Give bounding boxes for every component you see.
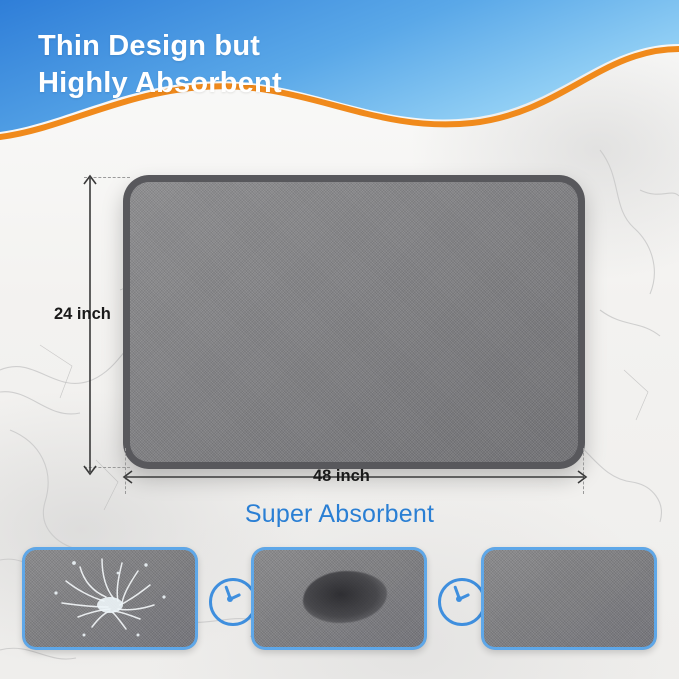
height-dimension-label: 24 inch [54,305,111,324]
header-banner: Thin Design but Highly Absorbent [0,0,679,150]
clock-icon-1 [209,578,257,626]
page-title: Thin Design but Highly Absorbent [38,28,282,101]
water-splash-icon [22,547,198,650]
height-arrow [78,170,102,480]
wet-stain-shape [303,571,387,623]
water-splash-panel [22,547,198,650]
wet-stain-panel [251,547,427,650]
dry-mat-panel [481,547,657,650]
width-dimension-label: 48 inch [313,467,370,486]
mat-surface [130,182,578,462]
clock-icon-2 [438,578,486,626]
super-absorbent-title: Super Absorbent [0,500,679,529]
absorbent-mat [123,175,585,469]
product-infographic: Thin Design but Highly Absorbent 24 [0,0,679,679]
